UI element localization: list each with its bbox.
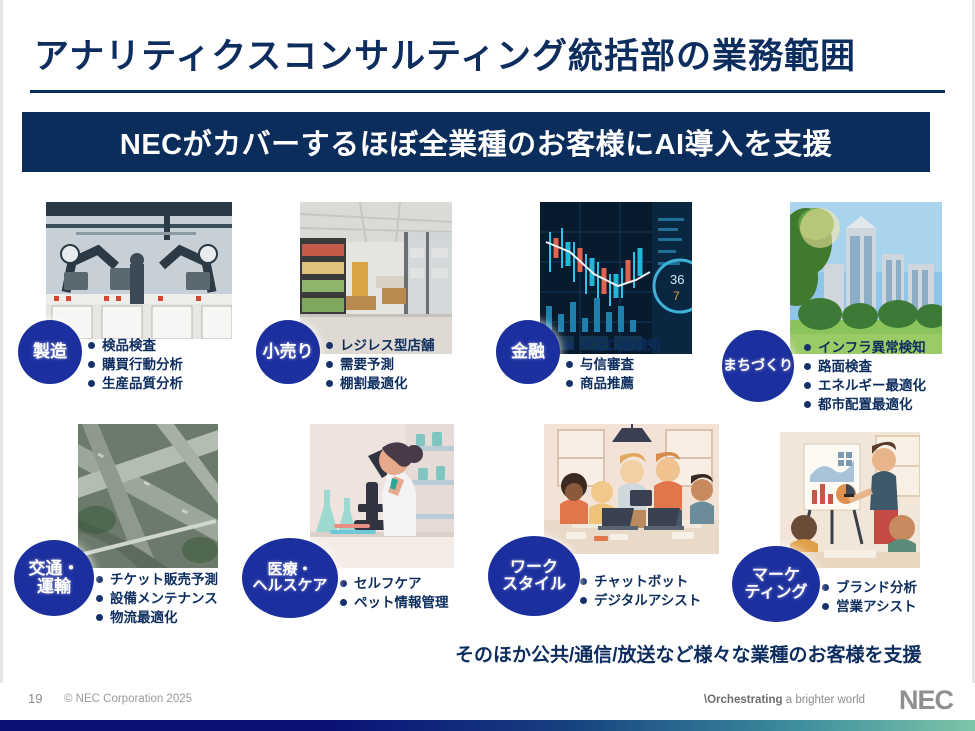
- bullet-dot-icon: [326, 361, 333, 368]
- bullet-text: デジタルアシスト: [594, 591, 701, 610]
- card-badge-label: 製造: [33, 343, 67, 361]
- card-badge-retail: 小売り: [256, 320, 320, 384]
- bullet-dot-icon: [326, 342, 333, 349]
- card-badge-label: マーケ ティング: [744, 567, 807, 602]
- bullet-text: ペット情報管理: [354, 593, 449, 612]
- bullet-item: 営業アシスト: [822, 597, 975, 616]
- bullet-item: 棚割最適化: [326, 374, 501, 393]
- tagline-rest: a brighter world: [783, 694, 865, 706]
- card-bullets-citybuilding: インフラ異常検知 路面検査 エネルギー最適化 都市配置最適化: [804, 338, 975, 415]
- bullet-item: 与信審査: [566, 355, 741, 374]
- badge-line-1: マーケ: [752, 567, 800, 584]
- headline-banner-text: NECがカバーするほぼ全業種のお客様にAI導入を支援: [120, 121, 832, 163]
- bullet-dot-icon: [96, 576, 103, 583]
- industry-card-healthcare[interactable]: 医療・ ヘルスケア セルフケア ペット情報管理: [248, 420, 492, 644]
- bullet-text: 商品推薦: [580, 374, 634, 393]
- badge-line-2: ティング: [744, 584, 807, 601]
- card-badge-healthcare: 医療・ ヘルスケア: [242, 538, 338, 618]
- card-badge-label: 医療・ ヘルスケア: [252, 562, 327, 594]
- title-divider: [30, 90, 945, 93]
- bullet-dot-icon: [804, 344, 811, 351]
- industry-card-manufacturing[interactable]: 製造 検品検査 購買行動分析 生産品質分析: [10, 196, 254, 420]
- bullet-item: 需要予測: [326, 355, 501, 374]
- page-title: アナリティクスコンサルティング統括部の業務範囲: [34, 28, 856, 79]
- bullet-text: チャットボット: [594, 572, 688, 591]
- industry-card-marketing[interactable]: マーケ ティング ブランド分析 営業アシスト: [726, 420, 970, 644]
- bullet-text: 営業アシスト: [836, 597, 916, 616]
- bullet-item: レジレス型店舗: [326, 336, 501, 355]
- copyright-text: © NEC Corporation 2025: [64, 693, 192, 705]
- bullet-dot-icon: [88, 342, 95, 349]
- bullet-dot-icon: [340, 580, 347, 587]
- card-row-1: 製造 検品検査 購買行動分析 生産品質分析: [0, 196, 975, 420]
- tagline-prefix: \Orchestrating: [704, 694, 783, 706]
- bullet-item: ブランド分析: [822, 578, 975, 597]
- card-badge-transport: 交通・ 運輸: [14, 540, 94, 616]
- card-image-highway: [78, 424, 218, 568]
- svg-text:7: 7: [673, 289, 680, 303]
- industry-card-retail[interactable]: 小売り レジレス型店舗 需要予測 棚割最適化: [248, 196, 492, 420]
- bullet-dot-icon: [566, 361, 573, 368]
- bottom-gradient-bar: [0, 720, 975, 731]
- bullet-item: 路面検査: [804, 357, 975, 376]
- industry-card-finance[interactable]: 36 7 金融 不正口座検知 与信審査 商品推薦: [488, 196, 732, 420]
- bullet-item: インフラ異常検知: [804, 338, 975, 357]
- slide-root: アナリティクスコンサルティング統括部の業務範囲 NECがカバーするほぼ全業種のお…: [0, 0, 975, 731]
- industry-card-workstyle[interactable]: ワーク スタイル チャットボット デジタルアシスト: [488, 420, 732, 644]
- bullet-text: インフラ異常検知: [818, 338, 926, 357]
- card-bullets-manufacturing: 検品検査 購買行動分析 生産品質分析: [88, 336, 263, 393]
- bullet-dot-icon: [804, 401, 811, 408]
- industry-card-citybuilding[interactable]: まちづくり インフラ異常検知 路面検査 エネルギー最適化 都市配置最適化: [726, 196, 970, 420]
- card-image-microscope: [310, 424, 454, 568]
- card-bullets-marketing: ブランド分析 営業アシスト: [822, 578, 975, 616]
- card-badge-finance: 金融: [496, 320, 560, 384]
- bullet-dot-icon: [580, 578, 587, 585]
- bullet-dot-icon: [326, 380, 333, 387]
- bullet-item: 商品推薦: [566, 374, 741, 393]
- bullet-text: 購買行動分析: [102, 355, 183, 374]
- card-image-presentation: [780, 432, 920, 568]
- card-image-stock-chart: 36 7: [540, 202, 692, 354]
- bullet-dot-icon: [340, 599, 347, 606]
- bullet-text: 棚割最適化: [340, 374, 408, 393]
- bullet-dot-icon: [96, 595, 103, 602]
- badge-line-2: スタイル: [502, 576, 566, 593]
- industry-card-transport[interactable]: 交通・ 運輸 チケット販売予測 設備メンテナンス 物流最適化: [10, 420, 254, 644]
- bullet-text: 与信審査: [580, 355, 634, 374]
- badge-line-2: ヘルスケア: [252, 577, 327, 594]
- bullet-dot-icon: [96, 614, 103, 621]
- card-badge-marketing: マーケ ティング: [732, 546, 820, 622]
- bullet-item: 生産品質分析: [88, 374, 263, 393]
- bullet-dot-icon: [88, 361, 95, 368]
- card-image-city: [790, 202, 942, 354]
- bullet-text: チケット販売予測: [110, 570, 218, 589]
- bullet-text: 検品検査: [102, 336, 156, 355]
- bullet-text: レジレス型店舗: [340, 336, 435, 355]
- footer-note: そのほか公共/通信/放送など様々な業種のお客様を支援: [455, 640, 922, 667]
- bullet-item: 物流最適化: [96, 608, 271, 627]
- bullet-text: ブランド分析: [836, 578, 917, 597]
- bullet-text: 物流最適化: [110, 608, 178, 627]
- bullet-item: 不正口座検知: [566, 336, 741, 355]
- nec-logo: NEC: [899, 685, 953, 716]
- card-image-factory: [46, 202, 232, 339]
- bullet-text: 路面検査: [818, 357, 872, 376]
- page-number: 19: [28, 691, 42, 706]
- card-badge-label: まちづくり: [723, 358, 793, 373]
- card-badge-label: ワーク スタイル: [502, 559, 566, 594]
- bullet-text: エネルギー最適化: [818, 376, 926, 395]
- card-image-office-team: [544, 424, 719, 554]
- bullet-dot-icon: [822, 603, 829, 610]
- svg-text:36: 36: [670, 272, 684, 287]
- card-bullets-finance: 不正口座検知 与信審査 商品推薦: [566, 336, 741, 393]
- bullet-text: 生産品質分析: [102, 374, 183, 393]
- card-badge-label: 金融: [511, 343, 545, 361]
- card-badge-manufacturing: 製造: [18, 320, 82, 384]
- bullet-text: 需要予測: [340, 355, 394, 374]
- badge-line-1: 交通・: [29, 559, 80, 578]
- headline-banner: NECがカバーするほぼ全業種のお客様にAI導入を支援: [22, 112, 930, 172]
- bullet-dot-icon: [804, 382, 811, 389]
- bullet-text: 設備メンテナンス: [110, 589, 218, 608]
- bullet-item: エネルギー最適化: [804, 376, 975, 395]
- card-badge-label: 小売り: [263, 343, 314, 361]
- bullet-text: 不正口座検知: [580, 336, 661, 355]
- card-row-2: 交通・ 運輸 チケット販売予測 設備メンテナンス 物流最適化: [0, 420, 975, 644]
- bullet-dot-icon: [804, 363, 811, 370]
- badge-line-1: 医療・: [267, 561, 312, 578]
- nec-tagline: \Orchestrating a brighter world: [704, 694, 865, 706]
- bullet-dot-icon: [566, 342, 573, 349]
- bullet-item: 都市配置最適化: [804, 395, 975, 414]
- industry-card-grid: 製造 検品検査 購買行動分析 生産品質分析: [0, 196, 975, 644]
- bullet-text: セルフケア: [354, 574, 422, 593]
- bullet-dot-icon: [88, 380, 95, 387]
- bullet-item: 購買行動分析: [88, 355, 263, 374]
- bullet-text: 都市配置最適化: [818, 395, 913, 414]
- bullet-dot-icon: [580, 597, 587, 604]
- card-image-supermarket: [300, 202, 452, 354]
- badge-line-1: ワーク: [510, 559, 558, 576]
- card-badge-label: 交通・ 運輸: [29, 560, 80, 597]
- bullet-dot-icon: [566, 380, 573, 387]
- card-badge-citybuilding: まちづくり: [722, 330, 794, 402]
- badge-line-2: 運輸: [37, 577, 71, 596]
- card-bullets-retail: レジレス型店舗 需要予測 棚割最適化: [326, 336, 501, 393]
- bullet-dot-icon: [822, 584, 829, 591]
- bullet-item: 検品検査: [88, 336, 263, 355]
- card-badge-workstyle: ワーク スタイル: [488, 536, 580, 616]
